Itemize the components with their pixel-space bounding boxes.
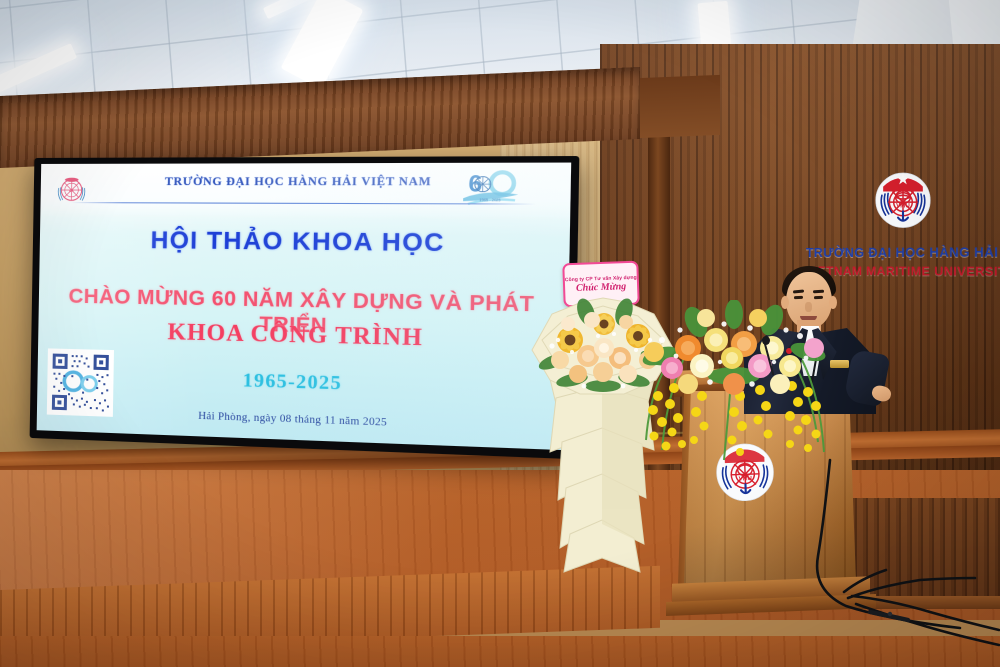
- slide-footer: Hải Phòng, ngày 08 tháng 11 năm 2025: [37, 405, 566, 435]
- qr-code[interactable]: [47, 348, 114, 416]
- slide-heading-1: HỘI THẢO KHOA HỌC: [40, 226, 570, 260]
- wall-signage-vietnamese: TRƯỜNG ĐẠI HỌC HÀNG HẢI VIỆT NAM: [806, 245, 1000, 260]
- flower-arrangement-right: [640, 300, 830, 480]
- slide-years: 1965-2025: [37, 364, 567, 402]
- anniversary-60-logo-icon: 6 1965 - 2025: [459, 165, 530, 212]
- floor-lower: [0, 636, 1000, 667]
- vmu-emblem-wall: VMU: [872, 168, 934, 230]
- speaker-name-badge: [830, 360, 849, 368]
- speaker-ear: [829, 296, 837, 309]
- svg-text:CT: CT: [69, 189, 75, 193]
- svg-text:1965 - 2025: 1965 - 2025: [479, 198, 500, 202]
- speaker-eyebrow: [813, 290, 824, 293]
- presentation-slide: CT TRƯỜNG ĐẠI HỌC HÀNG HẢI VIỆT NAM 6 19…: [37, 163, 572, 451]
- presentation-display[interactable]: CT TRƯỜNG ĐẠI HỌC HÀNG HẢI VIỆT NAM 6 19…: [30, 156, 580, 459]
- svg-text:VMU: VMU: [896, 203, 910, 210]
- microphone-head: [762, 336, 770, 345]
- ribbon-line-2: Chúc Mừng: [576, 281, 627, 294]
- conference-hall-photo: VMU TRƯỜNG ĐẠI HỌC HÀNG HẢI VIỆT NAM VIE…: [0, 0, 1000, 667]
